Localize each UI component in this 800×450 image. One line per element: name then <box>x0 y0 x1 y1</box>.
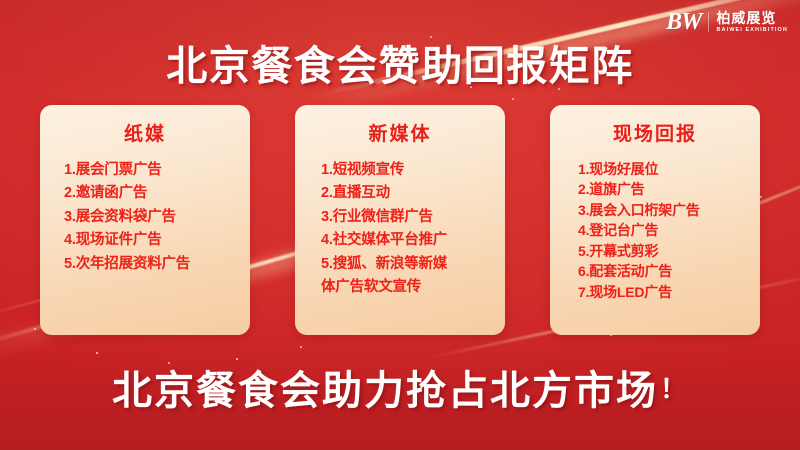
card-onsite-return: 现场回报 1.现场好展位 2.道旗广告 3.展会入口桁架广告 4.登记台广告 5… <box>550 105 760 335</box>
poster-canvas: BW 柏威展览 BAIWEI EXHIBITION 北京餐食会赞助回报矩阵 纸媒… <box>0 0 800 450</box>
card-item-list: 1.展会门票广告 2.邀请函广告 3.展会资料袋广告 4.现场证件广告 5.次年… <box>50 159 240 276</box>
list-item-continuation: 体广告软文宣传 <box>317 276 495 299</box>
list-item: 1.现场好展位 <box>572 159 750 179</box>
footer-slogan: 北京餐食会助力抢占北方市场！ <box>0 358 800 416</box>
card-new-media: 新媒体 1.短视频宣传 2.直播互动 3.行业微信群广告 4.社交媒体平台推广 … <box>295 105 505 335</box>
list-item: 4.现场证件广告 <box>62 229 240 252</box>
list-item: 7.现场LED广告 <box>572 282 750 302</box>
list-item: 5.搜狐、新浪等新媒 <box>317 253 495 276</box>
list-item: 4.社交媒体平台推广 <box>317 229 495 252</box>
footer-slogan-punct: ！ <box>660 374 688 404</box>
list-item: 6.配套活动广告 <box>572 261 750 281</box>
card-title: 新媒体 <box>305 119 495 146</box>
footer-slogan-text: 北京餐食会助力抢占北方市场 <box>112 369 658 413</box>
list-item: 2.邀请函广告 <box>62 182 240 205</box>
card-row: 纸媒 1.展会门票广告 2.邀请函广告 3.展会资料袋广告 4.现场证件广告 5… <box>40 105 760 335</box>
list-item: 1.短视频宣传 <box>317 159 495 182</box>
logo-name-cn: 柏威展览 <box>716 11 788 25</box>
card-paper-media: 纸媒 1.展会门票广告 2.邀请函广告 3.展会资料袋广告 4.现场证件广告 5… <box>40 105 250 335</box>
card-item-list: 1.现场好展位 2.道旗广告 3.展会入口桁架广告 4.登记台广告 5.开幕式剪… <box>560 159 750 302</box>
list-item: 1.展会门票广告 <box>62 159 240 182</box>
page-title: 北京餐食会赞助回报矩阵 <box>0 32 800 92</box>
list-item: 3.行业微信群广告 <box>317 206 495 229</box>
brand-logo: BW 柏威展览 BAIWEI EXHIBITION <box>666 10 788 34</box>
logo-mark-bw: BW <box>666 10 701 34</box>
logo-wordmark: 柏威展览 BAIWEI EXHIBITION <box>716 11 788 34</box>
card-title: 现场回报 <box>560 119 750 146</box>
card-item-list: 1.短视频宣传 2.直播互动 3.行业微信群广告 4.社交媒体平台推广 5.搜狐… <box>305 159 495 300</box>
card-title: 纸媒 <box>50 119 240 146</box>
list-item: 4.登记台广告 <box>572 220 750 240</box>
logo-divider <box>708 12 709 32</box>
list-item: 3.展会入口桁架广告 <box>572 200 750 220</box>
list-item: 5.次年招展资料广告 <box>62 253 240 276</box>
list-item: 2.直播互动 <box>317 182 495 205</box>
list-item: 5.开幕式剪彩 <box>572 241 750 261</box>
list-item: 2.道旗广告 <box>572 179 750 199</box>
logo-name-en: BAIWEI EXHIBITION <box>716 28 788 34</box>
list-item: 3.展会资料袋广告 <box>62 206 240 229</box>
